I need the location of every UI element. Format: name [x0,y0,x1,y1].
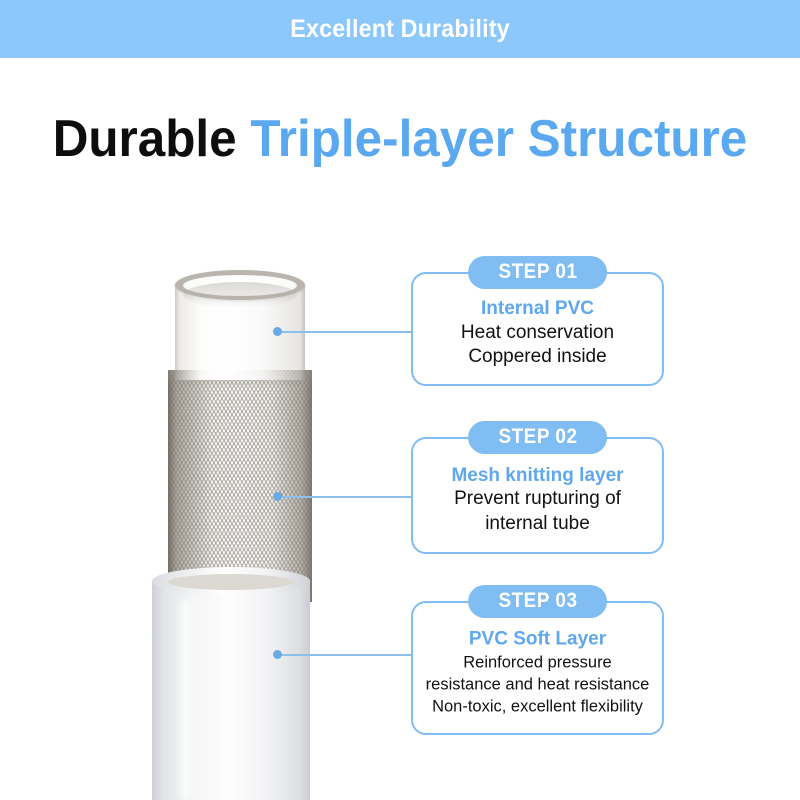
step-line-3-2: Non-toxic, excellent flexibility [417,695,659,717]
step-line-2-0: Prevent rupturing of [413,487,662,512]
step-title-1: Internal PVC [413,297,662,321]
step-badge-2: STEP 02 [468,421,608,454]
step-card-1[interactable]: STEP 01 Internal PVC Heat conservation C… [411,272,664,386]
step-title-2: Mesh knitting layer [413,463,662,487]
step-card-3[interactable]: STEP 03 PVC Soft Layer Reinforced pressu… [411,601,664,735]
product-image-hose-cutaway [0,0,400,800]
leader-line-step-3 [281,654,412,656]
step-card-body-2: Mesh knitting layer Prevent rupturing of… [413,454,662,536]
step-line-2-1: internal tube [413,512,662,537]
step-title-3: PVC Soft Layer [413,627,662,651]
step-line-1-0: Heat conservation [413,321,662,346]
step-line-3-0: Reinforced pressure [417,651,659,673]
step-badge-label-2: STEP 02 [498,425,577,449]
leader-line-step-1 [281,331,412,333]
step-card-body-1: Internal PVC Heat conservation Coppered … [413,288,662,370]
leader-dot-step-1 [273,327,282,336]
step-badge-label-3: STEP 03 [498,589,577,613]
step-badge-1: STEP 01 [468,256,608,289]
step-badge-label-1: STEP 01 [498,260,577,284]
leader-dot-step-2 [273,492,282,501]
outer-jacket-rim-inner [168,574,294,590]
step-badge-3: STEP 03 [468,585,608,618]
step-card-2[interactable]: STEP 02 Mesh knitting layer Prevent rupt… [411,437,664,554]
inner-pvc-bore-shadow [183,282,297,308]
leader-dot-step-3 [273,650,282,659]
infographic-page: Excellent Durability Durable Triple-laye… [0,0,800,800]
step-line-1-1: Coppered inside [413,345,662,370]
step-line-3-1: resistance and heat resistance [417,673,659,695]
outer-jacket-highlight [176,600,194,800]
step-card-body-3: PVC Soft Layer Reinforced pressure resis… [413,618,662,717]
leader-line-step-2 [281,496,412,498]
